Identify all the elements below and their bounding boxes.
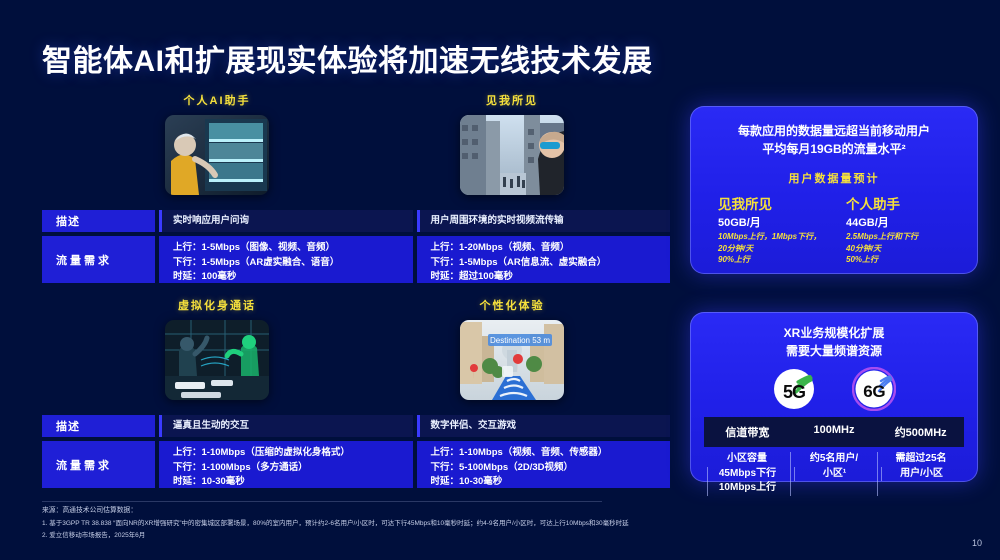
footnote-source: 来源：高通技术公司估算数据： [42,505,742,518]
xr-spectrum-panel: XR业务规模化扩展 需要大量频谱资源 5 G [690,312,978,482]
xr-cell-line: 小区容量 [707,452,787,467]
footnotes: 来源：高通技术公司估算数据： 1. 基于3GPP TR 38.838 “面向NR… [42,505,742,542]
col-headline-1: 44GB/月 [846,214,962,230]
desc-value-3: 数字伴侣、交互游戏 [417,415,671,437]
table-row-desc-bottom: 描述 逼真且生动的交互 数字伴侣、交互游戏 [42,415,670,437]
req-value-0: 上行：1-5Mbps（图像、视频、音频） 下行：1-5Mbps（AR虚实融合、语… [159,236,413,283]
col-detail: 2.5Mbps上行和下行 [846,231,962,243]
scenario-image-0 [165,115,269,195]
scenario-table-top: 描述 实时响应用户问询 用户周围环境的实时视频流传输 流量需求 上行：1-5Mb… [42,210,670,283]
xr-cell-line: 45Mbps下行 [707,467,787,482]
req-line: 时延：10-30毫秒 [431,475,661,490]
req-line: 上行：1-20Mbps（视频、音频） [431,241,661,256]
scenario-image-1 [460,115,564,195]
col-detail: 10Mbps上行，1Mbps下行， [718,231,834,243]
xr-table: 信道带宽 100MHz 约500MHz 小区容量 45Mbps下行 10Mbps… [704,417,964,496]
req-line: 下行：1-100Mbps（多方通话） [173,461,403,476]
scenario-label-2: 虚拟化身通话 [102,297,332,313]
xr-cell-line: 用户/小区 [881,467,961,482]
scenario-header-3: 个性化体验 [397,297,627,400]
data-volume-columns: 见我所见 50GB/月 10Mbps上行，1Mbps下行， 20分钟/天 90%… [706,193,962,266]
scenario-row-bottom: 虚拟化身通话 [42,297,670,497]
data-volume-panel: 每款应用的数据量远超当前移动用户 平均每月19GB的流量水平² 用户数据量预计 … [690,106,978,274]
table-row-req-top: 流量需求 上行：1-5Mbps（图像、视频、音频） 下行：1-5Mbps（AR虚… [42,236,670,283]
xr-title-line1: XR业务规模化扩展 [704,324,964,342]
xr-body-cell-0: 小区容量 45Mbps下行 10Mbps上行 [704,452,790,496]
desc-value-1: 用户周围环境的实时视频流传输 [417,210,671,232]
req-line: 时延：超过100毫秒 [431,270,661,285]
xr-cell-line: 10Mbps上行 [707,481,787,496]
svg-text:G: G [792,382,806,402]
scenario-label-3: 个性化体验 [397,297,627,313]
data-volume-col-1: 个人助手 44GB/月 2.5Mbps上行和下行 40分钟/天 50%上行 [834,193,962,266]
xr-header-cell-2: 约500MHz [877,417,964,447]
req-line: 时延：100毫秒 [173,270,403,285]
col-headline-0: 50GB/月 [718,214,834,230]
data-volume-title: 每款应用的数据量远超当前移动用户 平均每月19GB的流量水平² [706,122,962,158]
page-number: 10 [972,538,982,548]
row-label-desc-bottom: 描述 [42,415,155,437]
xr-title: XR业务规模化扩展 需要大量频谱资源 [704,324,964,360]
footnote-item: 1. 基于3GPP TR 38.838 “面向NR的XR增强研究”中的密集城区部… [42,518,742,530]
footnote-item: 2. 爱立信移动市场报告，2025年6月 [42,530,742,542]
footnote-divider [42,501,602,502]
data-volume-title-line1: 每款应用的数据量远超当前移动用户 [706,122,962,140]
scenario-image-2 [165,320,269,400]
xr-table-body: 小区容量 45Mbps下行 10Mbps上行 约5名用户/ 小区¹ 需超过25名… [704,447,964,496]
data-volume-subtitle: 用户数据量预计 [706,170,962,186]
req-line: 时延：10-30毫秒 [173,475,403,490]
xr-body-cell-2: 需超过25名 用户/小区 [877,452,964,496]
req-value-3: 上行：1-10Mbps（视频、音频、传感器） 下行：5-100Mbps（2D/3… [417,441,671,488]
table-row-req-bottom: 流量需求 上行：1-10Mbps（压缩的虚拟化身格式） 下行：1-100Mbps… [42,441,670,488]
svg-text:Destination 53 m: Destination 53 m [490,336,550,345]
col-detail: 90%上行 [718,254,834,266]
col-name-1: 个人助手 [846,193,962,213]
req-line: 上行：1-10Mbps（视频、音频、传感器） [431,446,661,461]
col-detail: 40分钟/天 [846,243,962,255]
xr-header-cell-0: 信道带宽 [704,417,791,447]
svg-text:G: G [872,382,885,401]
row-label-req-top: 流量需求 [42,236,155,283]
scenario-table-bottom: 描述 逼真且生动的交互 数字伴侣、交互游戏 流量需求 上行：1-10Mbps（压… [42,415,670,488]
xr-cell-line: 需超过25名 [881,452,961,467]
6g-badge-icon: 6 G [852,367,896,411]
desc-value-0: 实时响应用户问询 [159,210,413,232]
scenario-row-top: 个人AI助手 [42,92,670,292]
req-line: 上行：1-10Mbps（压缩的虚拟化身格式） [173,446,403,461]
scenario-label-0: 个人AI助手 [102,92,332,108]
generation-badges: 5 G 6 G [704,367,964,411]
xr-header-cell-1: 100MHz [791,417,878,447]
xr-cell-line: 小区¹ [794,467,874,482]
req-line: 下行：5-100Mbps（2D/3D视频） [431,461,661,476]
col-name-0: 见我所见 [718,193,834,213]
scenario-header-1: 见我所见 [397,92,627,195]
desc-value-2: 逼真且生动的交互 [159,415,413,437]
slide-root: 智能体AI和扩展现实体验将加速无线技术发展 个人AI助手 [0,0,1000,560]
svg-text:6: 6 [863,382,872,401]
data-volume-title-line2: 平均每月19GB的流量水平² [706,140,962,158]
req-value-2: 上行：1-10Mbps（压缩的虚拟化身格式） 下行：1-100Mbps（多方通话… [159,441,413,488]
scenario-header-0: 个人AI助手 [102,92,332,195]
req-line: 下行：1-5Mbps（AR虚实融合、语音） [173,256,403,271]
table-row-desc-top: 描述 实时响应用户问询 用户周围环境的实时视频流传输 [42,210,670,232]
scenario-image-3: Destination 53 m [460,320,564,400]
scenario-label-1: 见我所见 [397,92,627,108]
req-line: 上行：1-5Mbps（图像、视频、音频） [173,241,403,256]
scenario-grid: 个人AI助手 [42,92,670,497]
req-line: 下行：1-5Mbps（AR信息流、虚实融合） [431,256,661,271]
scenario-header-2: 虚拟化身通话 [102,297,332,400]
xr-title-line2: 需要大量频谱资源 [704,342,964,360]
xr-table-header: 信道带宽 100MHz 约500MHz [704,417,964,447]
xr-cell-line: 约5名用户/ [794,452,874,467]
page-title: 智能体AI和扩展现实体验将加速无线技术发展 [42,36,653,80]
xr-body-cell-1: 约5名用户/ 小区¹ [790,452,877,496]
req-value-1: 上行：1-20Mbps（视频、音频） 下行：1-5Mbps（AR信息流、虚实融合… [417,236,671,283]
col-detail: 20分钟/天 [718,243,834,255]
row-label-desc-top: 描述 [42,210,155,232]
row-label-req-bottom: 流量需求 [42,441,155,488]
5g-badge-icon: 5 G [772,367,816,411]
data-volume-col-0: 见我所见 50GB/月 10Mbps上行，1Mbps下行， 20分钟/天 90%… [706,193,834,266]
col-detail: 50%上行 [846,254,962,266]
